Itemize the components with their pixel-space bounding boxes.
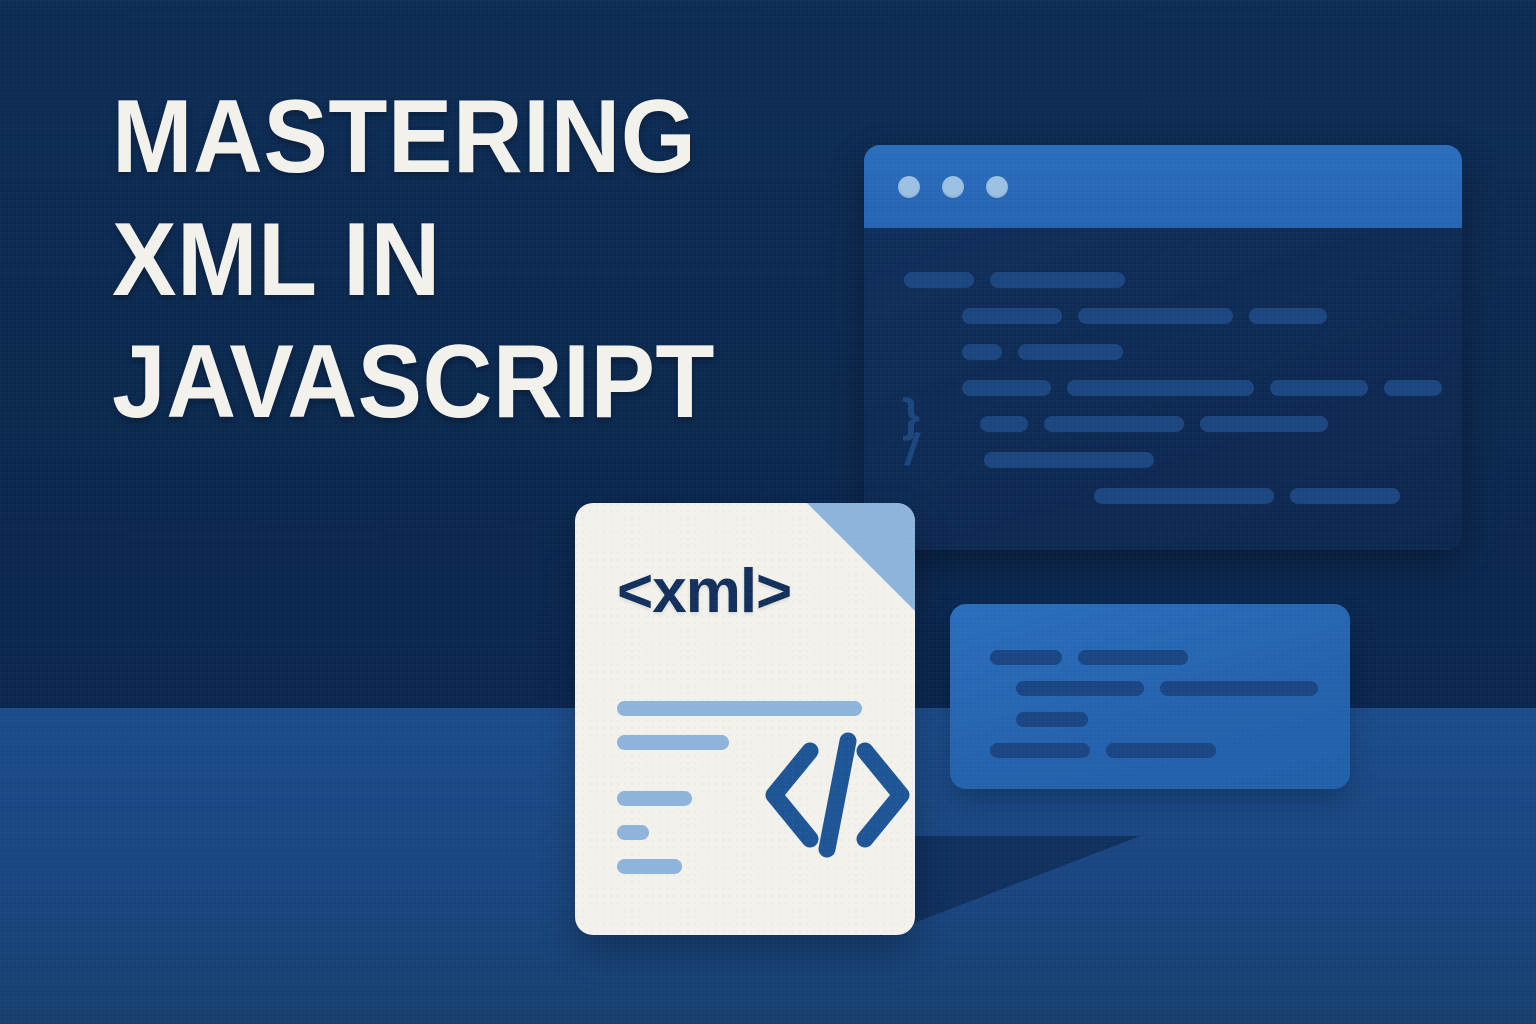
- code-window-body: }/: [864, 228, 1462, 550]
- code-token-bar: [962, 308, 1062, 324]
- window-close-dot-icon[interactable]: [898, 176, 920, 198]
- code-token-bar: [984, 452, 1154, 468]
- card-token-bar: [1016, 681, 1144, 696]
- code-token-bar: [1044, 416, 1184, 432]
- code-token-bar: [1249, 308, 1327, 324]
- code-line: [884, 370, 1442, 406]
- code-token-bar: [1384, 380, 1442, 396]
- code-window-titlebar: [864, 145, 1462, 228]
- document-text-line: [617, 859, 682, 874]
- code-token-bar: [962, 344, 1002, 360]
- code-token-bar: [1078, 308, 1233, 324]
- code-token-bar: [962, 380, 1051, 396]
- card-token-bar: [990, 743, 1090, 758]
- code-slash-icon: [760, 735, 915, 855]
- page-fold-corner-icon: [807, 503, 915, 611]
- document-text-line: [617, 701, 862, 716]
- card-token-bar: [1078, 650, 1188, 665]
- title-line-3: JAVASCRIPT: [112, 321, 819, 444]
- code-line: [884, 298, 1442, 334]
- code-line: [884, 478, 1442, 514]
- window-minimize-dot-icon[interactable]: [942, 176, 964, 198]
- code-line: }: [884, 406, 1442, 442]
- title-line-1: MASTERING: [112, 76, 819, 199]
- xml-document-icon: <xml>: [575, 503, 915, 935]
- xml-tag-label: <xml>: [617, 561, 791, 623]
- card-line: [982, 642, 1318, 673]
- code-token-bar: [990, 272, 1125, 288]
- card-line: [982, 735, 1318, 766]
- code-token-bar: [1018, 344, 1123, 360]
- card-line: [982, 704, 1318, 735]
- card-token-bar: [990, 650, 1062, 665]
- window-maximize-dot-icon[interactable]: [986, 176, 1008, 198]
- code-line: [884, 334, 1442, 370]
- code-token-bar: [904, 272, 974, 288]
- code-line: [884, 262, 1442, 298]
- page-title: MASTERING XML IN JAVASCRIPT: [112, 76, 819, 444]
- code-window: }/: [864, 145, 1462, 550]
- title-line-2: XML IN: [112, 199, 819, 322]
- info-card: [950, 604, 1350, 789]
- code-token-bar: [1094, 488, 1274, 504]
- card-token-bar: [1106, 743, 1216, 758]
- document-text-line: [617, 825, 649, 840]
- document-text-line: [617, 735, 729, 750]
- card-line: [982, 673, 1318, 704]
- document-text-line: [617, 791, 692, 806]
- poster-canvas: MASTERING XML IN JAVASCRIPT }/ <xml>: [0, 0, 1536, 1024]
- code-token-bar: [1067, 380, 1254, 396]
- code-token-bar: [1270, 380, 1368, 396]
- code-token-bar: [1200, 416, 1328, 432]
- code-token-bar: [1290, 488, 1400, 504]
- code-line: /: [884, 442, 1442, 478]
- code-token-bar: [980, 416, 1028, 432]
- card-token-bar: [1016, 712, 1088, 727]
- card-token-bar: [1160, 681, 1318, 696]
